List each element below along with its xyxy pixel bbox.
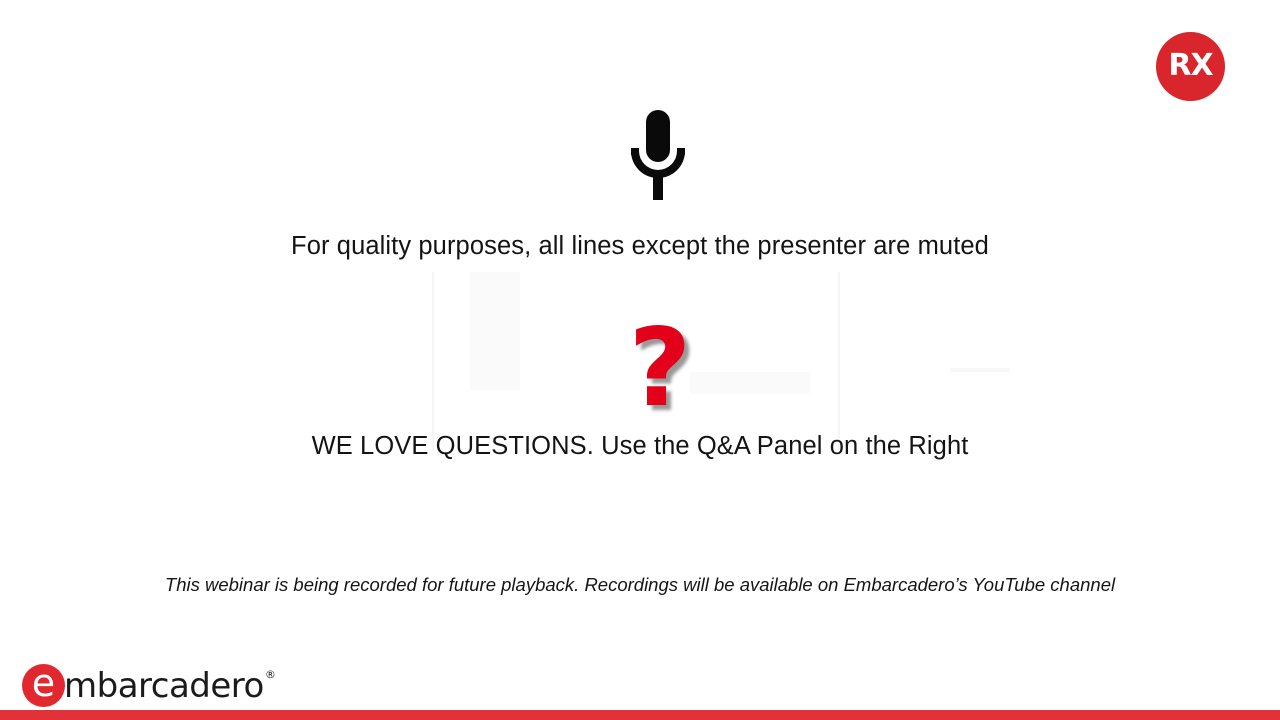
questions-panel-notice: WE LOVE QUESTIONS. Use the Q&A Panel on …	[0, 432, 1280, 461]
embarcadero-e-mark-icon: e	[22, 664, 65, 707]
background-artifact	[838, 272, 840, 450]
microphone-icon	[620, 104, 696, 202]
bottom-accent-bar	[0, 710, 1280, 720]
recording-notice: This webinar is being recorded for futur…	[0, 574, 1280, 596]
rx-logo-label: RX	[1168, 51, 1212, 81]
embarcadero-e-letter: e	[32, 664, 55, 702]
background-artifact	[950, 368, 1010, 372]
webinar-housekeeping-slide: RX For quality purposes, all lines excep…	[0, 0, 1280, 720]
rx-logo-icon: RX	[1156, 32, 1225, 101]
embarcadero-logo: e mbarcadero ®	[22, 662, 276, 708]
background-artifact	[432, 272, 434, 450]
muted-lines-notice: For quality purposes, all lines except t…	[0, 232, 1280, 261]
background-artifact	[470, 272, 520, 390]
embarcadero-wordmark: mbarcadero	[64, 669, 264, 703]
question-mark-icon: ?	[560, 316, 760, 426]
registered-trademark-symbol: ®	[265, 668, 276, 681]
